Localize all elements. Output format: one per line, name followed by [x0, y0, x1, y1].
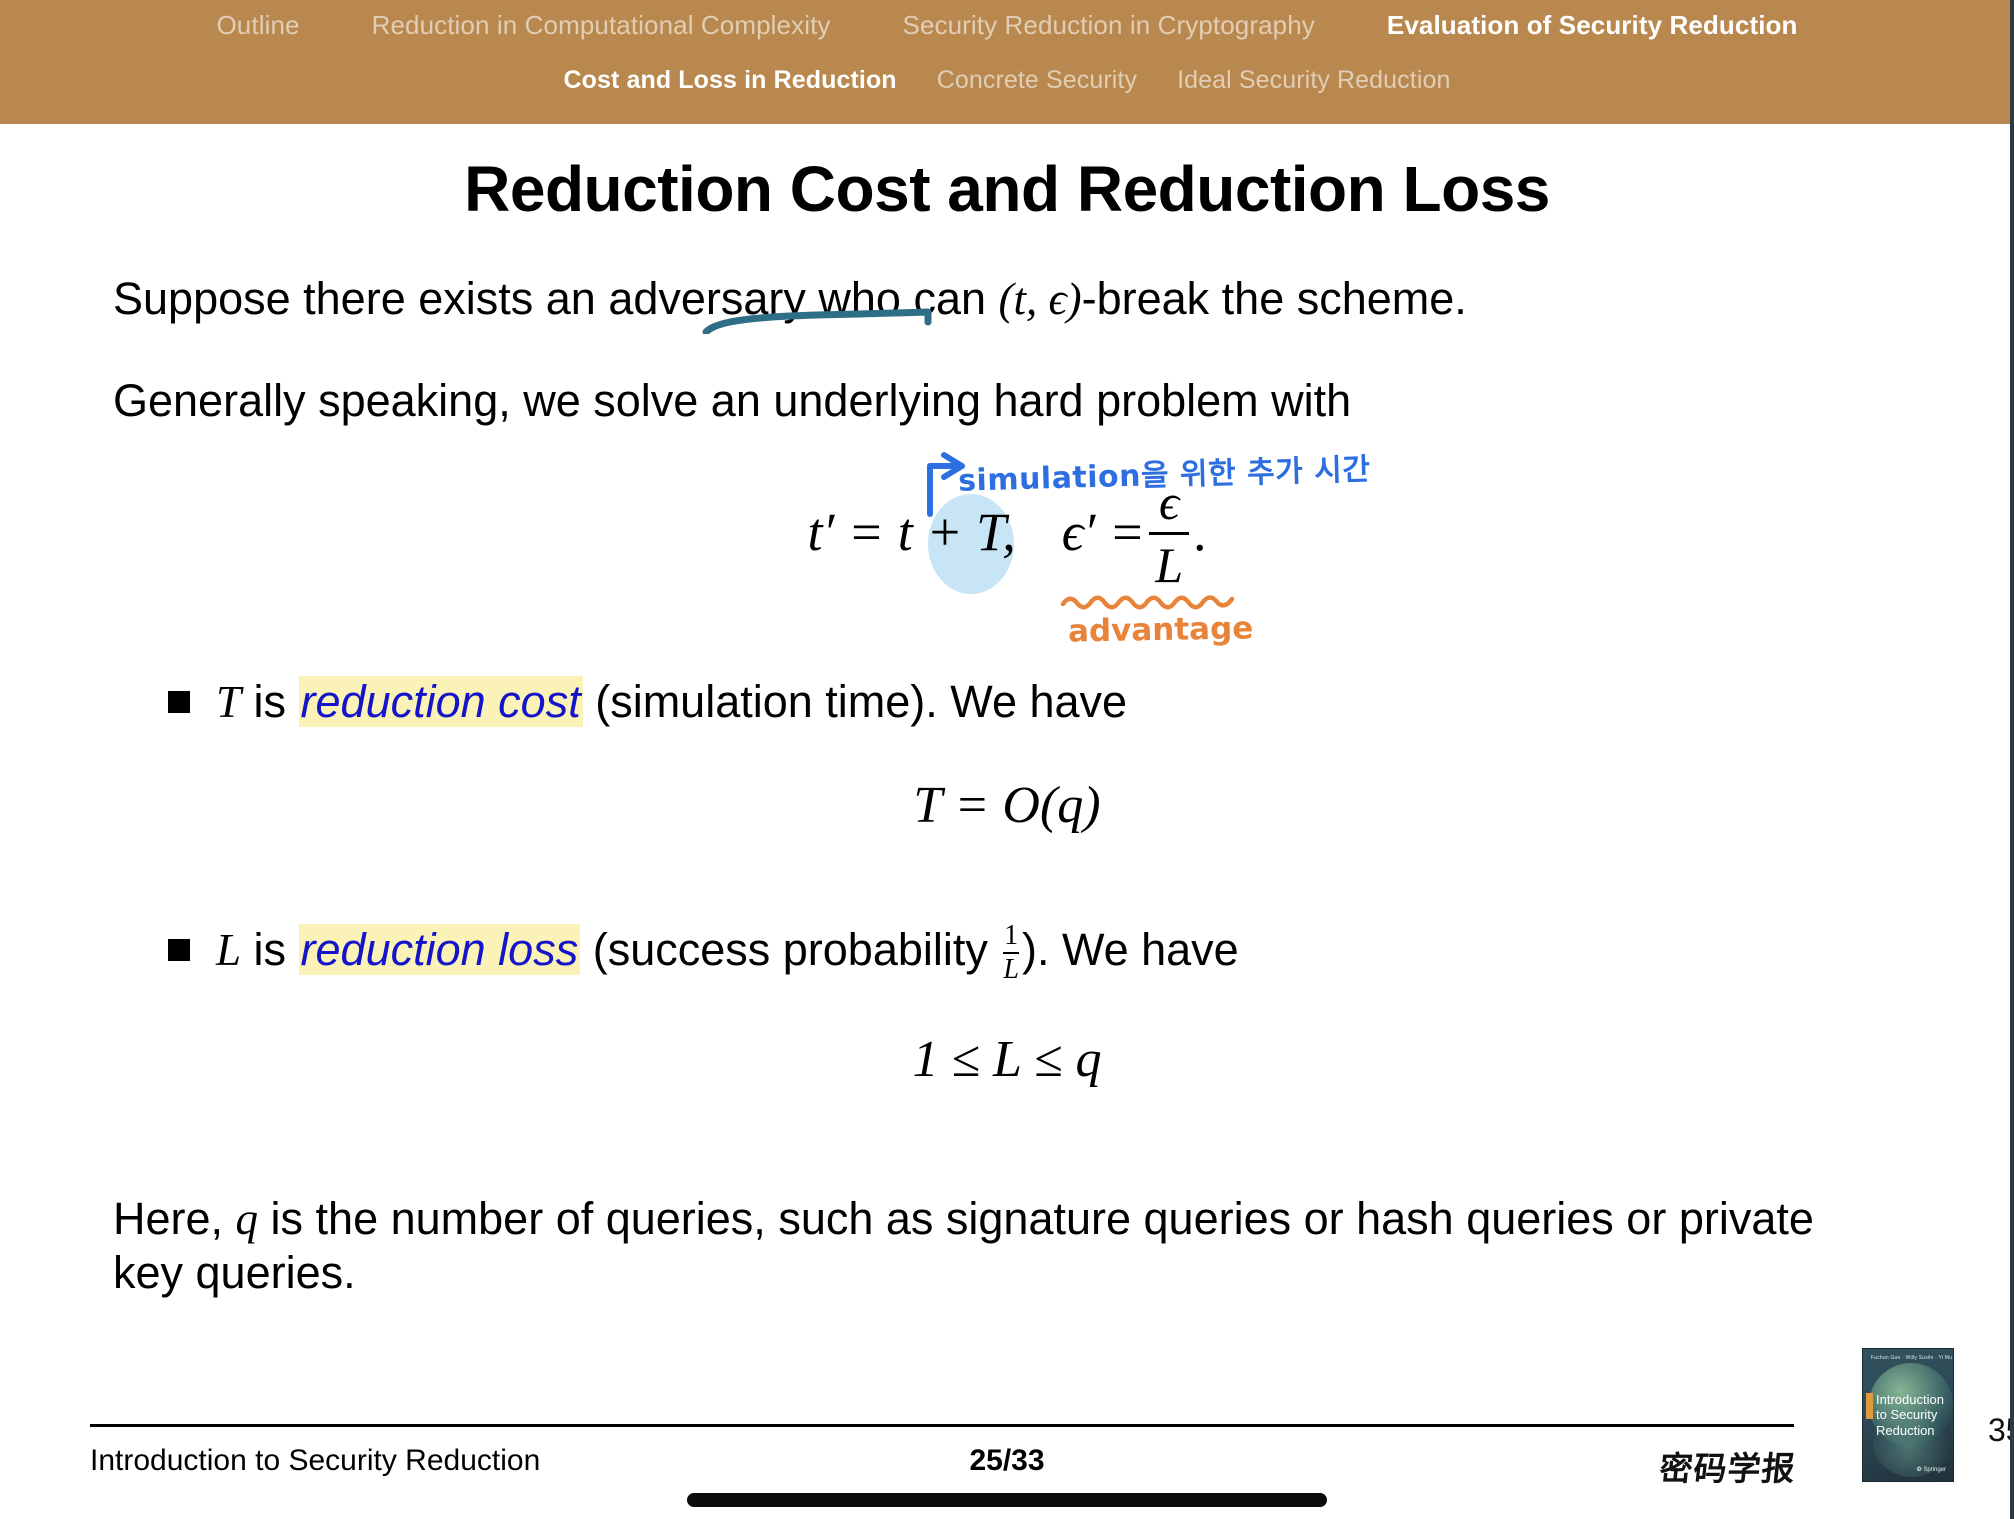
- slide-root: Outline Reduction in Computational Compl…: [0, 0, 2014, 1519]
- bullet2-rest-a: (success probability: [580, 924, 1000, 975]
- book-cover-publisher: ❂ Springer: [1917, 1466, 1946, 1473]
- para1-text-b: who can: [806, 273, 999, 324]
- nav-item-cost-and-loss-in-reduction[interactable]: Cost and Loss in Reduction: [544, 66, 917, 95]
- bullet2-var: L: [216, 925, 241, 975]
- paralast-text-b: is the number of queries, such as signat…: [113, 1193, 1814, 1298]
- bullet1-rest: (simulation time). We have: [583, 676, 1127, 727]
- book-title-line-1: Introduction: [1876, 1392, 1944, 1407]
- footer-divider: [90, 1424, 1794, 1427]
- fraction-bar: [1149, 532, 1189, 535]
- bullet-square-icon: [168, 939, 190, 961]
- paragraph-hard-problem: Generally speaking, we solve an underlyi…: [113, 374, 1351, 429]
- para1-underlined-word: adversary: [608, 273, 806, 324]
- bullet1-var: T: [216, 677, 241, 727]
- bullet2-rest-b: ). We have: [1022, 924, 1239, 975]
- formula-right-lhs: ϵ′ =: [1062, 501, 1146, 563]
- nav-item-security-reduction-cryptography[interactable]: Security Reduction in Cryptography: [867, 10, 1351, 41]
- book-cover-orange-accent: [1866, 1393, 1873, 1419]
- para1-text-a: Suppose there exists an: [113, 273, 608, 324]
- right-edge-strip: [2010, 0, 2014, 1519]
- slide-title: Reduction Cost and Reduction Loss: [0, 152, 2014, 226]
- paragraph-queries: Here, q is the number of queries, such a…: [113, 1192, 1873, 1299]
- fraction-denominator: L: [1149, 540, 1189, 590]
- journal-logo: 密码学报: [1657, 1442, 1798, 1490]
- handwritten-note-advantage: advantage: [1068, 610, 1254, 649]
- bullet1-is: is: [241, 676, 299, 727]
- equation-1-le-L-le-q: 1 ≤ L ≤ q: [0, 1030, 2014, 1089]
- inline-fraction-one-over-L: 1L: [1003, 922, 1019, 984]
- book-title-line-3: Reduction: [1876, 1423, 1944, 1438]
- inline-fraction-denominator: L: [1003, 956, 1019, 984]
- nav-row-sections: Outline Reduction in Computational Compl…: [0, 10, 2014, 41]
- book-cover-thumbnail: Fuchun Guo · Willy Susilo · Yi Mu Introd…: [1862, 1348, 1954, 1482]
- paragraph-adversary: Suppose there exists an adversary who ca…: [113, 272, 1467, 327]
- highlighted-term-reduction-cost: reduction cost: [299, 676, 583, 727]
- nav-item-concrete-security[interactable]: Concrete Security: [917, 66, 1157, 95]
- nav-item-evaluation-security-reduction[interactable]: Evaluation of Security Reduction: [1351, 10, 1834, 41]
- nav-item-ideal-security-reduction[interactable]: Ideal Security Reduction: [1157, 66, 1470, 95]
- bullet-item-reduction-loss: L is reduction loss (success probability…: [168, 922, 1239, 984]
- book-title-line-2: to Security: [1876, 1407, 1944, 1422]
- para1-math-t-epsilon: (t, ϵ): [999, 274, 1082, 324]
- formula-period: .: [1193, 501, 1207, 563]
- paralast-text-a: Here,: [113, 1193, 236, 1244]
- paralast-var-q: q: [236, 1194, 259, 1244]
- equation2-text: 1 ≤ L ≤ q: [912, 1031, 1101, 1088]
- equation-T-equals-O-q: T = O(q): [0, 776, 2014, 835]
- bullet2-is: is: [241, 924, 299, 975]
- nav-item-outline[interactable]: Outline: [180, 10, 335, 41]
- bullet-item-reduction-cost: T is reduction cost (simulation time). W…: [168, 676, 1127, 728]
- formula-left-part: t′ = t + T,: [807, 501, 1015, 563]
- bullet-square-icon: [168, 691, 190, 713]
- nav-item-reduction-computational-complexity[interactable]: Reduction in Computational Complexity: [336, 10, 867, 41]
- highlighted-term-reduction-loss: reduction loss: [299, 924, 581, 975]
- para1-text-c: -break the scheme.: [1082, 273, 1467, 324]
- inline-fraction-numerator: 1: [1004, 922, 1018, 950]
- navigation-bar: Outline Reduction in Computational Compl…: [0, 0, 2014, 124]
- book-cover-title: Introduction to Security Reduction: [1876, 1392, 1944, 1438]
- equation1-text: T = O(q): [913, 777, 1100, 834]
- book-cover-authors: Fuchun Guo · Willy Susilo · Yi Mu: [1871, 1355, 1952, 1361]
- nav-row-subsections: Cost and Loss in Reduction Concrete Secu…: [0, 66, 2014, 95]
- home-indicator-bar[interactable]: [687, 1493, 1327, 1507]
